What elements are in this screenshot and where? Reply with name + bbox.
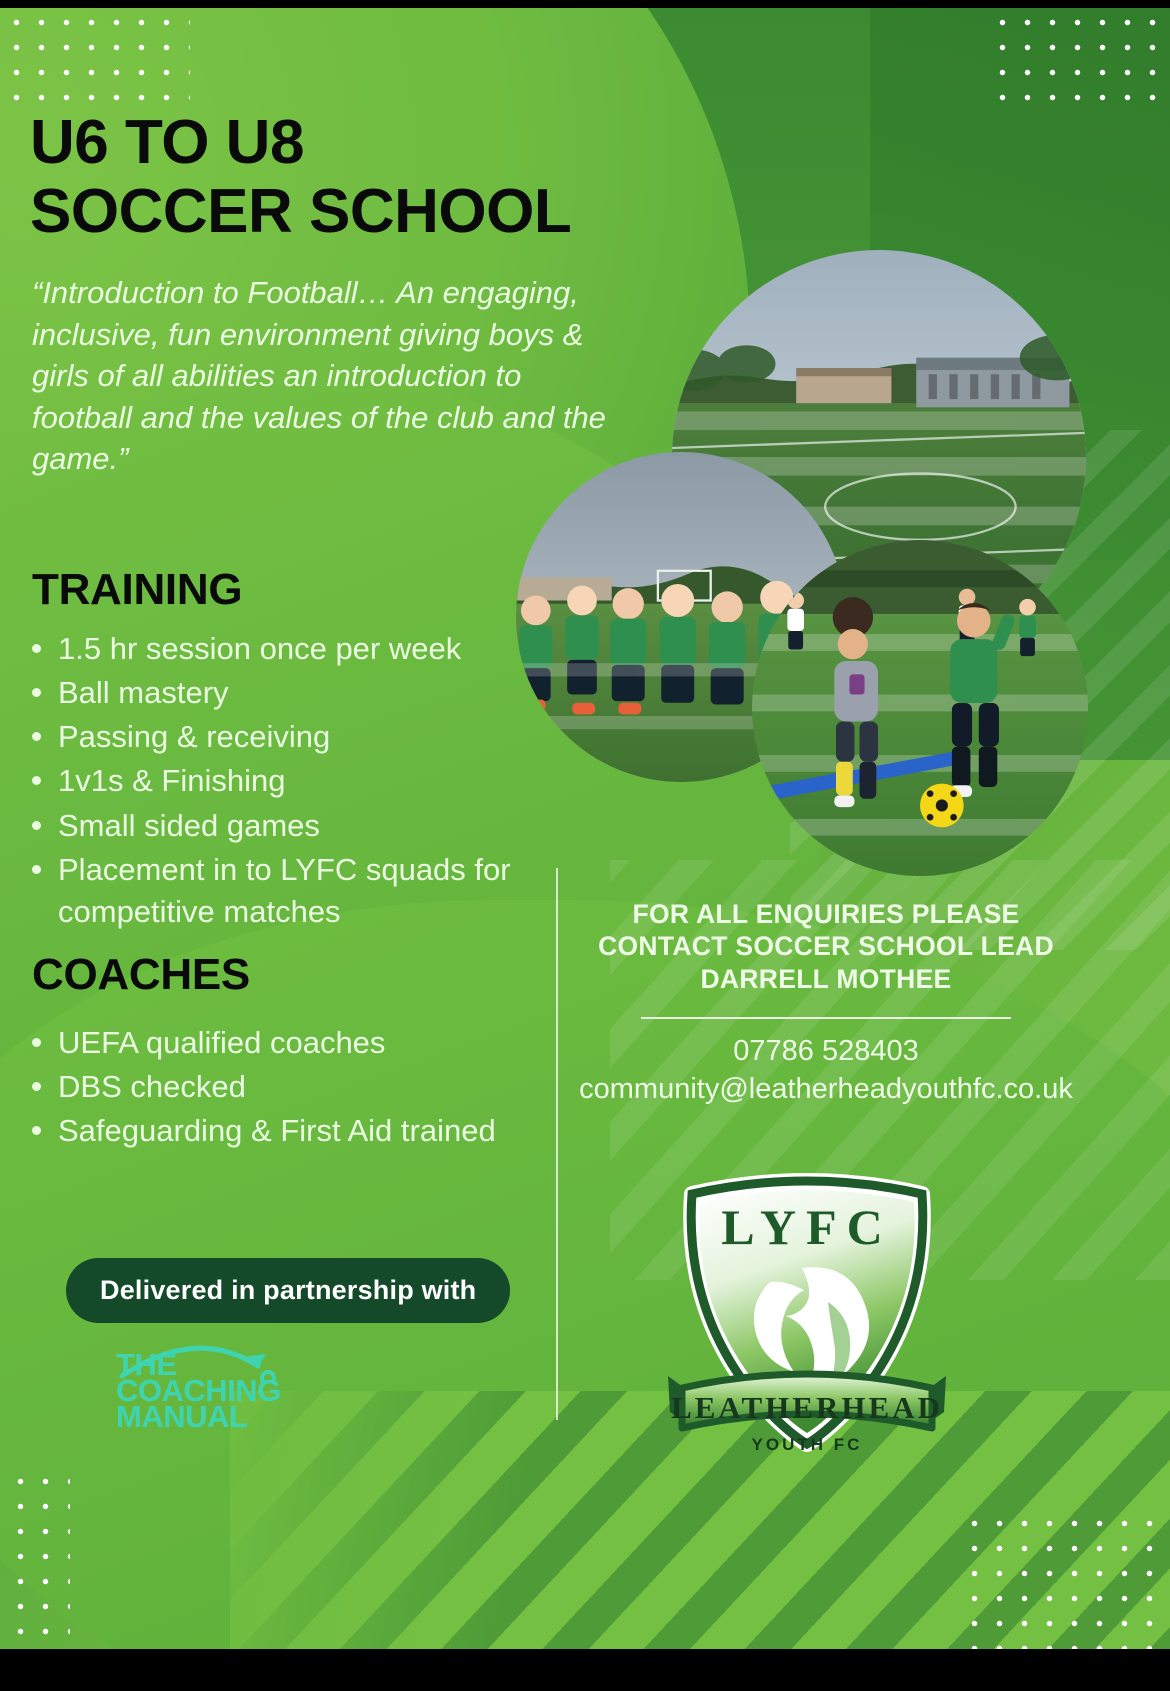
crest-banner-text: LEATHERHEAD	[671, 1390, 943, 1425]
list-item: Safeguarding & First Aid trained	[26, 1110, 586, 1152]
lyfc-crest: LYFC LEATHERHEAD YOUTH FC	[652, 1160, 962, 1460]
contact-block: FOR ALL ENQUIRIES PLEASE CONTACT SOCCER …	[566, 898, 1086, 1108]
list-item: Ball mastery	[26, 672, 586, 714]
partnership-pill: Delivered in partnership with	[66, 1258, 510, 1323]
letterbox-bar-top	[0, 0, 1170, 8]
coaching-manual-logo: THE COACHING MANUAL	[108, 1330, 298, 1426]
list-item: Passing & receiving	[26, 716, 586, 758]
training-heading: TRAINING	[32, 565, 242, 615]
poster-root: U6 TO U8 SOCCER SCHOOL “Introduction to …	[0, 0, 1170, 1691]
contact-phone[interactable]: 07786 528403	[566, 1033, 1086, 1071]
contact-divider-rule	[641, 1017, 1011, 1019]
list-item: Small sided games	[26, 805, 586, 847]
page-title: U6 TO U8 SOCCER SCHOOL	[30, 108, 670, 247]
coaches-list: UEFA qualified coaches DBS checked Safeg…	[26, 1022, 586, 1154]
title-line-1: U6 TO U8	[30, 108, 670, 177]
title-line-2: SOCCER SCHOOL	[30, 177, 670, 246]
coaching-manual-wordmark: THE COACHING MANUAL	[116, 1352, 281, 1430]
list-item: UEFA qualified coaches	[26, 1022, 586, 1064]
list-item: Placement in to LYFC squads for competit…	[26, 849, 586, 933]
list-item: DBS checked	[26, 1066, 586, 1108]
list-item: 1v1s & Finishing	[26, 760, 586, 802]
contact-heading: FOR ALL ENQUIRIES PLEASE CONTACT SOCCER …	[566, 898, 1086, 995]
contact-email[interactable]: community@leatherheadyouthfc.co.uk	[566, 1071, 1086, 1109]
list-item: 1.5 hr session once per week	[26, 628, 586, 670]
lyfc-crest-icon: LYFC LEATHERHEAD YOUTH FC	[652, 1160, 962, 1460]
crest-subtitle: YOUTH FC	[752, 1435, 863, 1454]
intro-quote: “Introduction to Football… An engaging, …	[32, 272, 612, 480]
letterbox-bar-bottom	[0, 1649, 1170, 1691]
column-divider	[556, 868, 558, 1420]
crest-initials: LYFC	[721, 1199, 893, 1255]
coaches-heading: COACHES	[32, 950, 250, 1000]
training-list: 1.5 hr session once per week Ball master…	[26, 628, 586, 935]
